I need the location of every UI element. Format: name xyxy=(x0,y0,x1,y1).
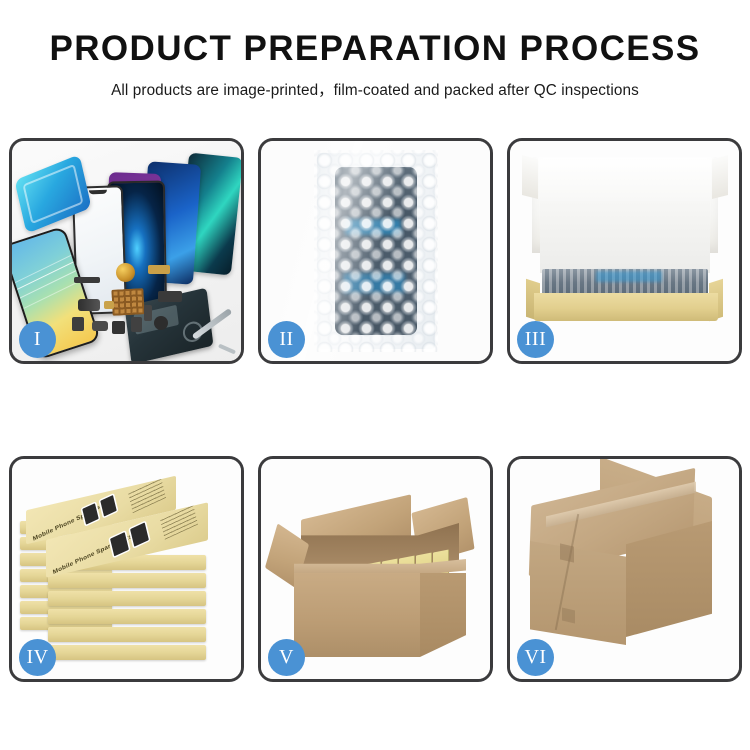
spare-part xyxy=(104,301,114,309)
spare-part xyxy=(112,321,125,334)
carton-side-panel xyxy=(420,573,466,657)
step-badge-6: VI xyxy=(517,639,554,676)
step-badge-2: II xyxy=(268,321,305,358)
stacked-box xyxy=(48,645,206,660)
process-step-panel-1[interactable]: I xyxy=(9,138,244,364)
box-label-screen xyxy=(130,522,149,546)
process-step-grid: I II III xyxy=(9,138,741,682)
box-front-panel xyxy=(534,293,718,321)
page-subtitle: All products are image-printed，film-coat… xyxy=(0,78,750,100)
process-step-panel-3[interactable]: III xyxy=(507,138,742,364)
process-step-panel-2[interactable]: II xyxy=(258,138,493,364)
carton-tab xyxy=(562,607,575,623)
box-label-lines xyxy=(128,478,166,514)
spare-part xyxy=(92,321,108,331)
header: PRODUCT PREPARATION PROCESS All products… xyxy=(0,0,750,100)
chip-grid-part xyxy=(111,288,144,316)
screwdriver-tool xyxy=(218,344,236,355)
carton-front-panel xyxy=(294,573,420,657)
process-step-panel-6[interactable]: VI xyxy=(507,456,742,682)
speaker-part-icon xyxy=(116,263,135,282)
stacked-box xyxy=(48,573,206,588)
spare-part xyxy=(131,317,142,332)
box-interior xyxy=(540,201,710,273)
spare-part xyxy=(158,291,182,302)
process-step-panel-5[interactable]: V xyxy=(258,456,493,682)
spare-part xyxy=(74,277,100,283)
carton-tab xyxy=(560,543,574,562)
spare-part xyxy=(148,265,170,274)
carton-left-face xyxy=(530,541,626,645)
spare-part xyxy=(72,317,84,331)
product-preparation-infographic: PRODUCT PREPARATION PROCESS All products… xyxy=(0,0,750,750)
step-badge-1: I xyxy=(19,321,56,358)
stacked-box xyxy=(48,609,206,624)
spare-part xyxy=(144,305,152,321)
step-badge-5: V xyxy=(268,639,305,676)
stacked-box xyxy=(48,591,206,606)
box-label-screen xyxy=(100,495,116,517)
process-step-panel-4[interactable]: Mobile Phone Spare Parts Mobile Phone Sp… xyxy=(9,456,244,682)
stacked-box xyxy=(48,627,206,642)
page-title: PRODUCT PREPARATION PROCESS xyxy=(0,30,750,69)
step-badge-4: IV xyxy=(19,639,56,676)
spare-part xyxy=(154,316,168,330)
step-badge-3: III xyxy=(517,321,554,358)
spare-part xyxy=(78,299,100,311)
